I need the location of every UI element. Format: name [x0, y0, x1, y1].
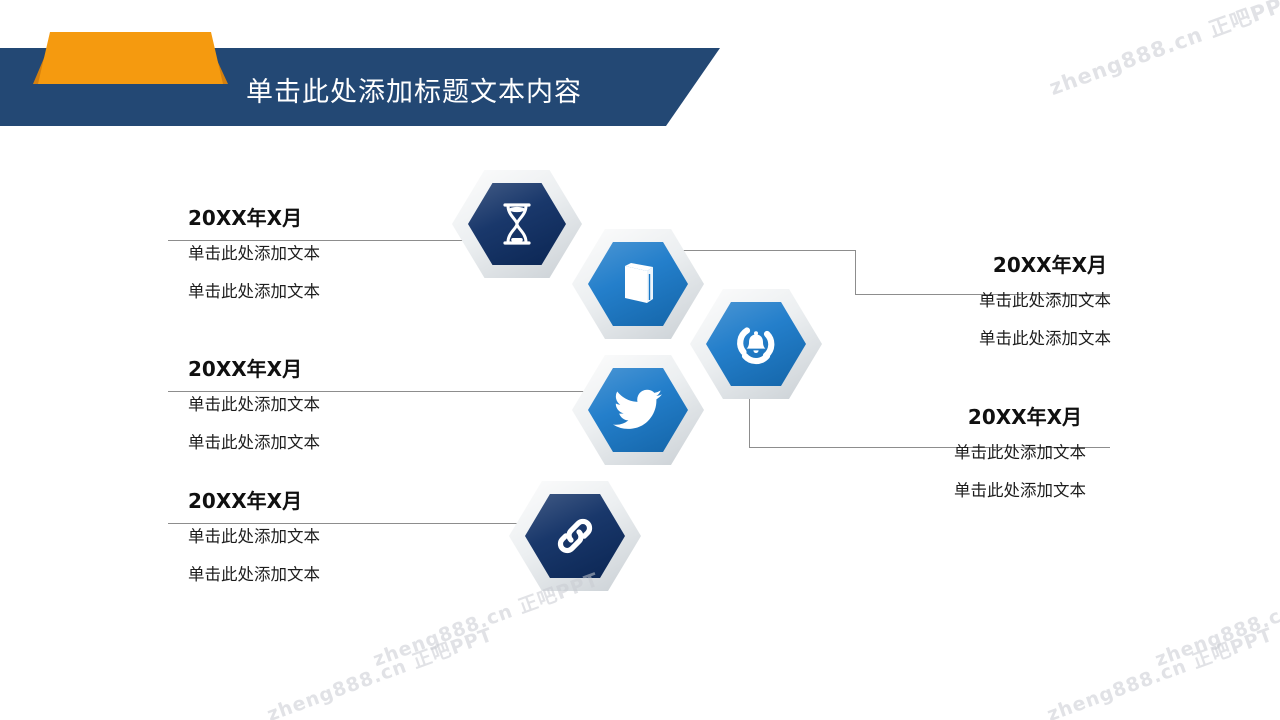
item-line: 单击此处添加文本 — [855, 320, 1125, 358]
connector-right-1-top — [673, 250, 855, 251]
slide-canvas: 单击此处添加标题文本内容 20XX年X月 单击此处添加文本 单击此处添加文本 2… — [0, 0, 1280, 720]
item-heading: 20XX年X月 — [830, 404, 1100, 430]
item-line: 单击此处添加文本 — [168, 386, 523, 424]
item-line: 单击此处添加文本 — [830, 434, 1100, 472]
item-line: 单击此处添加文本 — [830, 472, 1100, 510]
book-icon — [588, 242, 688, 326]
timeline-item-left-2[interactable]: 20XX年X月 单击此处添加文本 单击此处添加文本 — [168, 356, 523, 462]
item-heading: 20XX年X月 — [168, 488, 523, 514]
item-line: 单击此处添加文本 — [855, 282, 1125, 320]
item-heading: 20XX年X月 — [168, 356, 523, 382]
item-line: 单击此处添加文本 — [168, 518, 523, 556]
timeline-item-right-1[interactable]: 20XX年X月 单击此处添加文本 单击此处添加文本 — [855, 252, 1125, 358]
item-line: 单击此处添加文本 — [168, 556, 523, 594]
connector-right-2-vert — [749, 393, 750, 447]
timeline-item-left-3[interactable]: 20XX年X月 单击此处添加文本 单击此处添加文本 — [168, 488, 523, 594]
twitter-bird-icon — [588, 368, 688, 452]
item-line: 单击此处添加文本 — [168, 273, 523, 311]
page-title: 单击此处添加标题文本内容 — [246, 70, 716, 109]
alarm-bell-icon — [706, 302, 806, 386]
hourglass-icon — [468, 183, 566, 265]
chain-link-icon — [525, 494, 625, 578]
item-line: 单击此处添加文本 — [168, 424, 523, 462]
item-heading: 20XX年X月 — [855, 252, 1125, 278]
header-tab-shape — [38, 32, 223, 84]
timeline-item-right-2[interactable]: 20XX年X月 单击此处添加文本 单击此处添加文本 — [830, 404, 1100, 510]
